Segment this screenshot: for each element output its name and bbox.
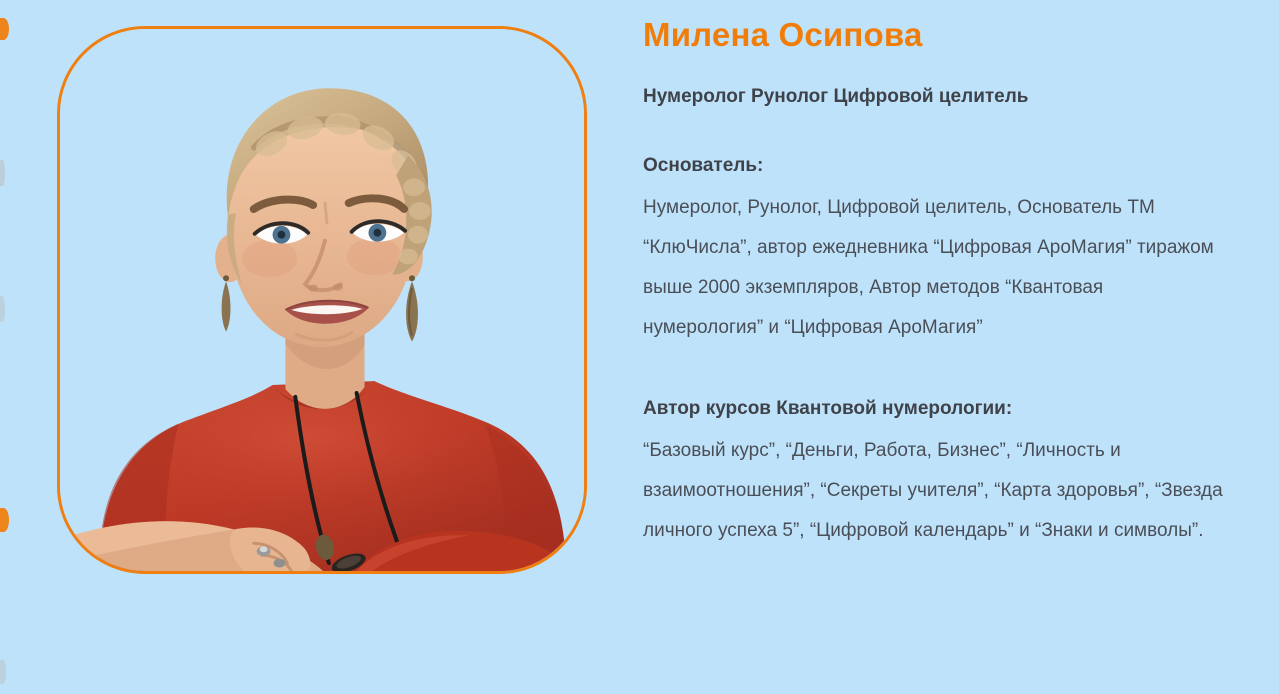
section-courses-title: Автор курсов Квантовой нумерологии: (643, 393, 1243, 424)
section-founder-title: Основатель: (643, 150, 1243, 181)
edge-decoration-orange-top (0, 18, 9, 40)
section-courses-body: “Базовый курс”, “Деньги, Работа, Бизнес”… (643, 431, 1223, 551)
profile-text-column: Милена Осипова Нумеролог Рунолог Цифрово… (643, 0, 1243, 694)
section-courses: Автор курсов Квантовой нумерологии: “Баз… (643, 348, 1243, 551)
edge-decoration-grey-middle (0, 296, 5, 322)
edge-decoration-orange-bottom (0, 508, 9, 532)
edge-decoration-grey-upper (0, 160, 5, 186)
profile-subtitle: Нумеролог Рунолог Цифровой целитель (643, 55, 1243, 111)
section-founder-body: Нумеролог, Рунолог, Цифровой целитель, О… (643, 188, 1223, 348)
profile-card-page: { "theme": { "background": "#bfe2fb", "a… (0, 0, 1279, 694)
portrait-frame (57, 26, 587, 574)
edge-decoration-grey-lower (0, 660, 6, 684)
section-founder: Основатель: Нумеролог, Рунолог, Цифровой… (643, 111, 1243, 348)
portrait-photo (60, 29, 584, 571)
page-title: Милена Осипова (643, 0, 1243, 55)
